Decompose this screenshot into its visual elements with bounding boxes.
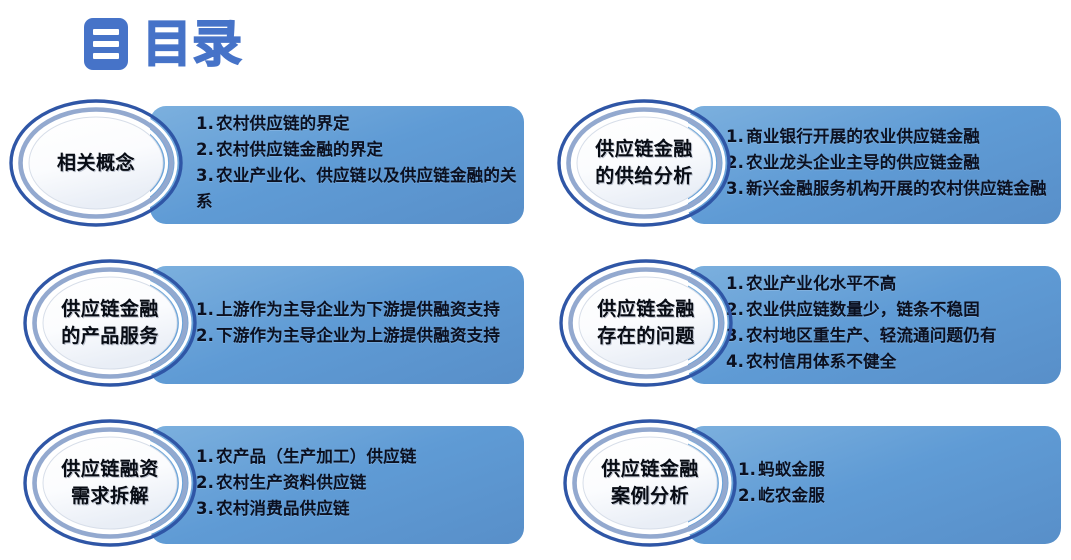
list-item: 1.蚂蚁金服 [738,457,1061,483]
list-text: 屹农金服 [758,486,825,505]
list-text: 农业产业化水平不高 [746,274,896,293]
list-number: 1. [196,300,214,319]
list-bar-3 [93,53,119,59]
list-number: 2. [196,473,214,492]
list-number: 3. [196,499,214,518]
list-item: 1.商业银行开展的农业供应链金融 [726,124,1061,150]
entry-item-list: 1.农产品（生产加工）供应链 2.农村生产资料供应链 3.农村消费品供应链 [196,444,518,522]
list-text: 农村信用体系不健全 [746,352,896,371]
badge-rings-icon [22,418,198,548]
entry-badge[interactable]: 供应链金融 的供给分析 [556,98,732,228]
list-item: 4.农村信用体系不健全 [726,349,1061,375]
list-item: 1.农产品（生产加工）供应链 [196,444,518,470]
list-text: 农村供应链的界定 [216,114,350,133]
badge-rings-icon [556,98,732,228]
list-text: 上游作为主导企业为下游提供融资支持 [216,300,500,319]
list-text: 农产品（生产加工）供应链 [216,447,416,466]
entry-badge[interactable]: 相关概念 [8,98,184,228]
list-text: 农村地区重生产、轻流通问题仍有 [746,326,997,345]
list-item: 2.下游作为主导企业为上游提供融资支持 [196,323,518,349]
list-bar-2 [93,41,119,47]
list-text: 商业银行开展的农业供应链金融 [746,127,980,146]
entry-item-list: 1.商业银行开展的农业供应链金融 2.农业龙头企业主导的供应链金融 3.新兴金融… [726,124,1061,202]
list-text: 农业供应链数量少，链条不稳固 [746,300,980,319]
list-number: 1. [196,447,214,466]
list-item: 3.农村地区重生产、轻流通问题仍有 [726,323,1061,349]
list-item: 2.屹农金服 [738,483,1061,509]
toc-entry-product-services[interactable]: 1.上游作为主导企业为下游提供融资支持 2.下游作为主导企业为上游提供融资支持 … [8,258,526,388]
toc-entry-case-analysis[interactable]: 1.蚂蚁金服 2.屹农金服 供应链金融 案例分析 [548,418,1063,548]
list-item: 1.上游作为主导企业为下游提供融资支持 [196,297,518,323]
list-item: 1.农业产业化水平不高 [726,271,1061,297]
list-number: 1. [196,114,214,133]
list-number: 1. [738,460,756,479]
page-title-text: 目录 [142,18,242,70]
badge-rings-icon [558,258,734,388]
entry-item-list: 1.蚂蚁金服 2.屹农金服 [738,457,1061,509]
list-item: 1.农村供应链的界定 [196,111,518,137]
list-text: 农业龙头企业主导的供应链金融 [746,153,980,172]
badge-rings-icon [8,98,184,228]
entry-item-list: 1.农业产业化水平不高 2.农业供应链数量少，链条不稳固 3.农村地区重生产、轻… [726,271,1061,375]
list-item: 3.农村消费品供应链 [196,496,518,522]
list-number: 3. [196,166,214,185]
list-block-icon [84,18,128,70]
list-text: 农村消费品供应链 [216,499,350,518]
list-item: 2.农村供应链金融的界定 [196,137,518,163]
list-item: 3.新兴金融服务机构开展的农村供应链金融 [726,176,1061,202]
list-text: 农业产业化、供应链以及供应链金融的关系 [196,166,517,211]
badge-rings-icon [22,258,198,388]
list-text: 农村供应链金融的界定 [216,140,383,159]
entry-badge[interactable]: 供应链金融 的产品服务 [22,258,198,388]
list-item: 2.农村生产资料供应链 [196,470,518,496]
list-number: 2. [196,326,214,345]
toc-board: 1.农村供应链的界定 2.农村供应链金融的界定 3.农业产业化、供应链以及供应链… [0,96,1071,560]
list-item: 2.农业龙头企业主导的供应链金融 [726,150,1061,176]
list-bar-1 [93,29,119,35]
list-number: 2. [196,140,214,159]
entry-badge[interactable]: 供应链金融 案例分析 [562,418,738,548]
list-text: 农村生产资料供应链 [216,473,366,492]
toc-entry-existing-problems[interactable]: 1.农业产业化水平不高 2.农业供应链数量少，链条不稳固 3.农村地区重生产、轻… [548,258,1063,388]
toc-entry-supply-analysis[interactable]: 1.商业银行开展的农业供应链金融 2.农业龙头企业主导的供应链金融 3.新兴金融… [548,98,1063,228]
entry-badge[interactable]: 供应链金融 存在的问题 [558,258,734,388]
toc-entry-financing-demand[interactable]: 1.农产品（生产加工）供应链 2.农村生产资料供应链 3.农村消费品供应链 供应… [8,418,526,548]
list-number: 2. [738,486,756,505]
list-item: 2.农业供应链数量少，链条不稳固 [726,297,1061,323]
badge-rings-icon [562,418,738,548]
list-text: 蚂蚁金服 [758,460,825,479]
toc-entry-related-concepts[interactable]: 1.农村供应链的界定 2.农村供应链金融的界定 3.农业产业化、供应链以及供应链… [8,98,526,228]
list-text: 下游作为主导企业为上游提供融资支持 [216,326,500,345]
entry-item-list: 1.上游作为主导企业为下游提供融资支持 2.下游作为主导企业为上游提供融资支持 [196,297,518,349]
list-item: 3.农业产业化、供应链以及供应链金融的关系 [196,163,518,215]
list-text: 新兴金融服务机构开展的农村供应链金融 [746,179,1047,198]
page-title: 目录 [84,18,242,70]
entry-item-list: 1.农村供应链的界定 2.农村供应链金融的界定 3.农业产业化、供应链以及供应链… [196,111,518,215]
entry-badge[interactable]: 供应链融资 需求拆解 [22,418,198,548]
